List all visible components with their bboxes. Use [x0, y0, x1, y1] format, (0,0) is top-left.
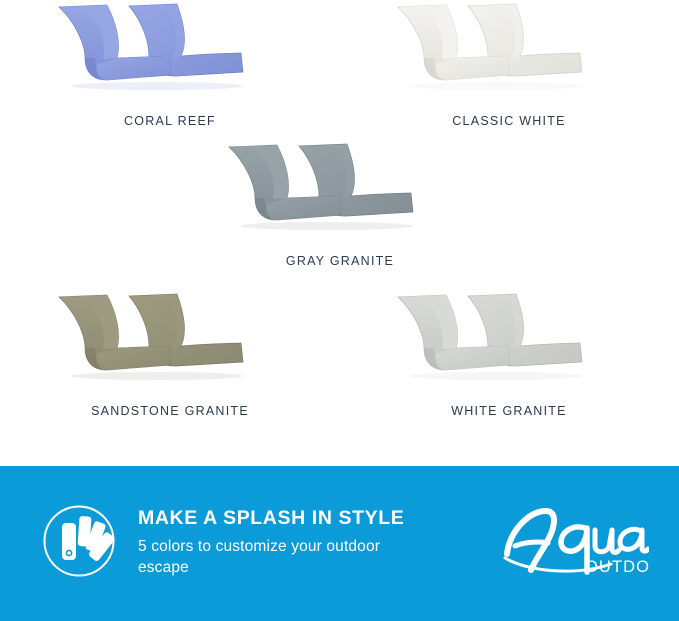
- chaise-lounge-pair: [384, 0, 634, 108]
- chaise-lounge-pair: [45, 0, 295, 108]
- promo-banner: MAKE A SPLASH IN STYLE 5 colors to custo…: [0, 466, 679, 621]
- color-name-label: SANDSTONE GRANITE: [0, 404, 340, 418]
- aqua-outdoors-logo: OUTDOORS: [499, 502, 649, 585]
- color-option-classic-white[interactable]: CLASSIC WHITE: [339, 0, 679, 128]
- color-name-label: GRAY GRANITE: [170, 254, 510, 268]
- chair-image: [339, 290, 679, 398]
- banner-headline: MAKE A SPLASH IN STYLE: [138, 508, 499, 529]
- chair-image: [339, 0, 679, 108]
- chair-image: [0, 0, 340, 108]
- chair-image: [170, 140, 510, 248]
- color-swatch-fan-icon: [42, 504, 116, 583]
- chaise-lounge-pair: [215, 140, 465, 248]
- color-option-white-granite[interactable]: WHITE GRANITE: [339, 290, 679, 418]
- chaise-lounge-pair: [384, 290, 634, 398]
- color-name-label: CLASSIC WHITE: [339, 114, 679, 128]
- chair-image: [0, 290, 340, 398]
- chair-shadow: [410, 372, 582, 380]
- banner-text-block: MAKE A SPLASH IN STYLE 5 colors to custo…: [138, 508, 499, 578]
- logo-wordmark: OUTDOORS: [585, 558, 649, 576]
- banner-subline: 5 colors to customize your outdoor escap…: [138, 537, 408, 579]
- color-name-label: WHITE GRANITE: [339, 404, 679, 418]
- chaise-lounge-pair: [45, 290, 295, 398]
- color-option-gray-granite[interactable]: GRAY GRANITE: [170, 140, 510, 268]
- chair-shadow: [71, 82, 243, 90]
- color-option-coral-reef[interactable]: CORAL REEF: [0, 0, 340, 128]
- chair-shadow: [71, 372, 243, 380]
- chair-shadow: [241, 222, 413, 230]
- color-option-sandstone-granite[interactable]: SANDSTONE GRANITE: [0, 290, 340, 418]
- color-name-label: CORAL REEF: [0, 114, 340, 128]
- color-options-grid: CORAL REEF CLASSIC WHITE: [0, 0, 679, 460]
- chair-shadow: [410, 82, 582, 90]
